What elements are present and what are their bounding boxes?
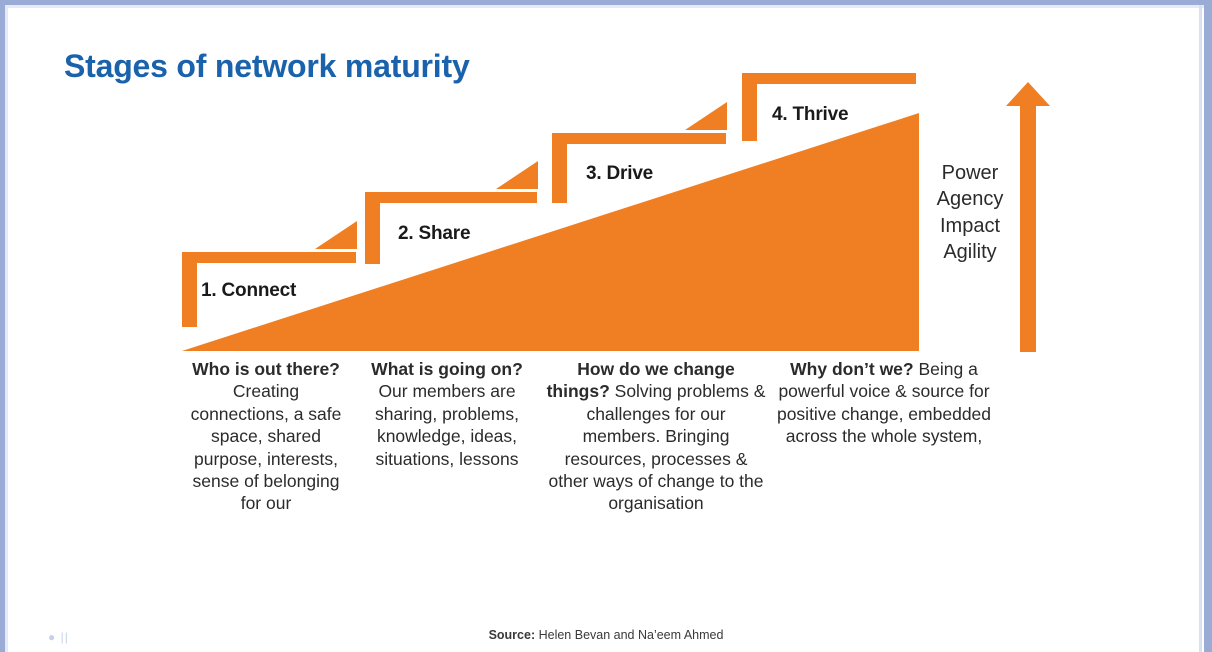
stage-question-4: Why don’t we? <box>790 359 913 379</box>
frame-border-left <box>0 0 5 652</box>
step-bar-3 <box>552 133 726 144</box>
step-riser-4 <box>742 73 757 141</box>
up-arrow-icon <box>1006 82 1050 352</box>
step-arrow-triangle-2 <box>496 161 538 189</box>
source-label: Source: <box>489 628 536 642</box>
stage-description-columns: Who is out there? Creating connections, … <box>180 358 1000 515</box>
page-title: Stages of network maturity <box>64 48 470 85</box>
step-riser-2 <box>365 192 380 264</box>
stage-body-1: Creating connections, a safe space, shar… <box>191 381 342 513</box>
outcomes-list: Power Agency Impact Agility <box>922 160 1018 266</box>
frame-border-right <box>1204 0 1212 652</box>
stage-body-2: Our members are sharing, problems, knowl… <box>375 381 519 468</box>
stage-description-1: Who is out there? Creating connections, … <box>180 358 352 515</box>
frame-inner-top <box>0 5 1212 8</box>
stage-description-2: What is going on? Our members are sharin… <box>352 358 542 470</box>
step-label-4: 4. Thrive <box>772 104 848 126</box>
stage-question-2: What is going on? <box>371 359 523 379</box>
outcome-item-agency: Agency <box>922 186 1018 212</box>
stage-description-4: Why don’t we? Being a powerful voice & s… <box>770 358 998 448</box>
outcome-item-impact: Impact <box>922 213 1018 239</box>
source-credit: Source: Helen Bevan and Na’eem Ahmed <box>0 628 1212 644</box>
outcome-item-agility: Agility <box>922 239 1018 265</box>
outcome-item-power: Power <box>922 160 1018 186</box>
step-label-2: 2. Share <box>398 223 470 245</box>
step-arrow-triangle-1 <box>315 221 357 249</box>
frame-border-top <box>0 0 1212 5</box>
step-bar-2 <box>365 192 537 203</box>
step-riser-3 <box>552 133 567 203</box>
step-bar-4 <box>742 73 916 84</box>
step-arrow-triangle-3 <box>685 102 727 130</box>
step-label-1: 1. Connect <box>201 280 296 302</box>
step-riser-1 <box>182 252 197 327</box>
source-text: Helen Bevan and Na’eem Ahmed <box>539 628 724 642</box>
slide-canvas: Stages of network maturity 1. Connect 2.… <box>0 0 1212 652</box>
frame-inner-left <box>5 0 8 652</box>
frame-inner-right <box>1199 0 1202 652</box>
stage-question-1: Who is out there? <box>192 359 340 379</box>
stage-description-3: How do we change things? Solving problem… <box>542 358 770 515</box>
step-label-3: 3. Drive <box>586 163 653 185</box>
corner-watermark: ● || <box>48 630 69 644</box>
step-bar-1 <box>182 252 356 263</box>
